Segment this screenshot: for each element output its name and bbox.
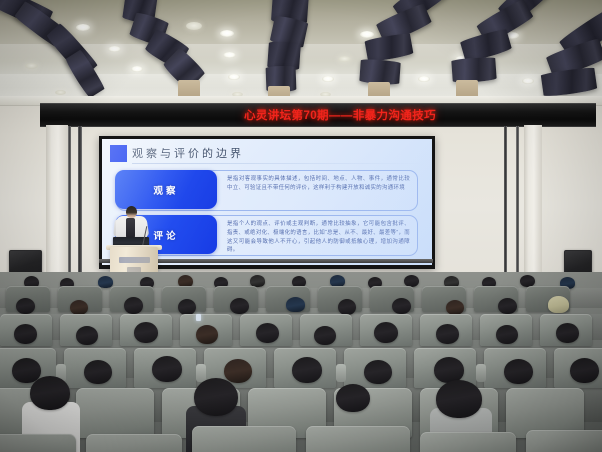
ceiling-downlight [186,22,202,30]
wall-recess-left [68,126,71,284]
ceiling-baffle [541,66,598,97]
ceiling-downlight [220,30,234,37]
auditorium-seat[interactable] [192,426,296,452]
audience-head [336,384,370,412]
slide-card-body-observation: 是指对客观事实的具体描述，包括时间、地点、人物、事件，通常比较中立、可验证且不带… [227,175,410,193]
audience-head [178,299,196,315]
presenter-inner-garment [126,218,135,238]
audience-head [124,297,143,314]
ceiling-downlight [338,56,351,62]
auditorium-seat[interactable] [526,430,602,452]
led-banner-text: 心灵讲坛第70期——非暴力沟通技巧 [244,107,436,123]
audience-head [224,359,252,383]
audience-head [392,298,411,314]
wall-recess-left-2 [78,126,82,284]
wall-column-right [524,125,542,290]
audience-head [98,276,113,288]
wall-recess-right-2 [516,126,519,296]
seat-armrest [476,364,486,382]
ceiling-downlight [108,46,121,52]
audience-head [286,297,305,312]
slide-title: 观察与评价的边界 [132,145,244,161]
lectern-emblem [119,257,150,263]
audience-head [446,300,464,315]
audience-head [84,360,112,384]
audience-head [292,357,322,383]
ceiling-downlight [25,63,38,69]
wall-recess-right [504,126,507,296]
audience-head [496,325,518,344]
audience-head [14,324,37,344]
ceiling-downlight [418,76,430,82]
led-banner: 心灵讲坛第70期——非暴力沟通技巧 [40,103,596,127]
auditorium-seat[interactable] [306,426,410,452]
slide-card-body-evaluation: 是指个人的观点、评价或主观判断，通常比较抽象，它可能包含批评、指责、或绝对化、极… [227,220,410,255]
wall-column-left [46,125,68,285]
ceiling-downlight [228,74,240,80]
audience-head [338,299,356,315]
ceiling [0,0,602,100]
slide-accent-square [110,145,127,162]
audience-head [504,359,533,384]
lecture-hall-scene: 心灵讲坛第70期——非暴力沟通技巧 观察与评价的边界 观察 是指对客观事实的具体… [0,0,602,452]
audience-head [364,360,392,384]
audience-head [498,298,517,314]
audience-head [196,325,218,344]
audience-head [548,296,569,313]
phone-screen-glow [196,314,201,321]
ceiling-downlight [223,52,236,58]
audience-head [76,326,98,345]
audience-head [256,323,279,343]
ceiling-downlight [322,76,334,82]
seat-armrest [336,364,346,382]
audience-head [374,322,398,343]
ceiling-downlight [522,78,534,84]
audience-head [556,323,579,343]
presenter-head [126,206,137,218]
auditorium-seat[interactable] [0,434,76,452]
audience-head [152,356,182,382]
audience-head [570,358,599,383]
audience-head [436,324,459,344]
auditorium-seat[interactable] [86,434,182,452]
audience-head [230,298,249,314]
auditorium-seat[interactable] [420,432,516,452]
ceiling-downlight [131,66,143,72]
ceiling-downlight [360,31,374,38]
audience-head [194,378,238,416]
audience-head [314,326,336,345]
auditorium-seat[interactable] [76,388,154,438]
audience-head [30,376,70,410]
ceiling-downlight [55,90,66,95]
seat-armrest [196,364,206,382]
audience-head [16,298,35,314]
slide-title-rule [132,163,422,164]
audience-head [70,300,88,315]
audience-seating [0,272,602,452]
audience-head [134,322,158,343]
audience-head [436,380,482,418]
slide-card-label-text: 观察 [153,183,178,197]
ceiling-downlight [76,24,90,31]
